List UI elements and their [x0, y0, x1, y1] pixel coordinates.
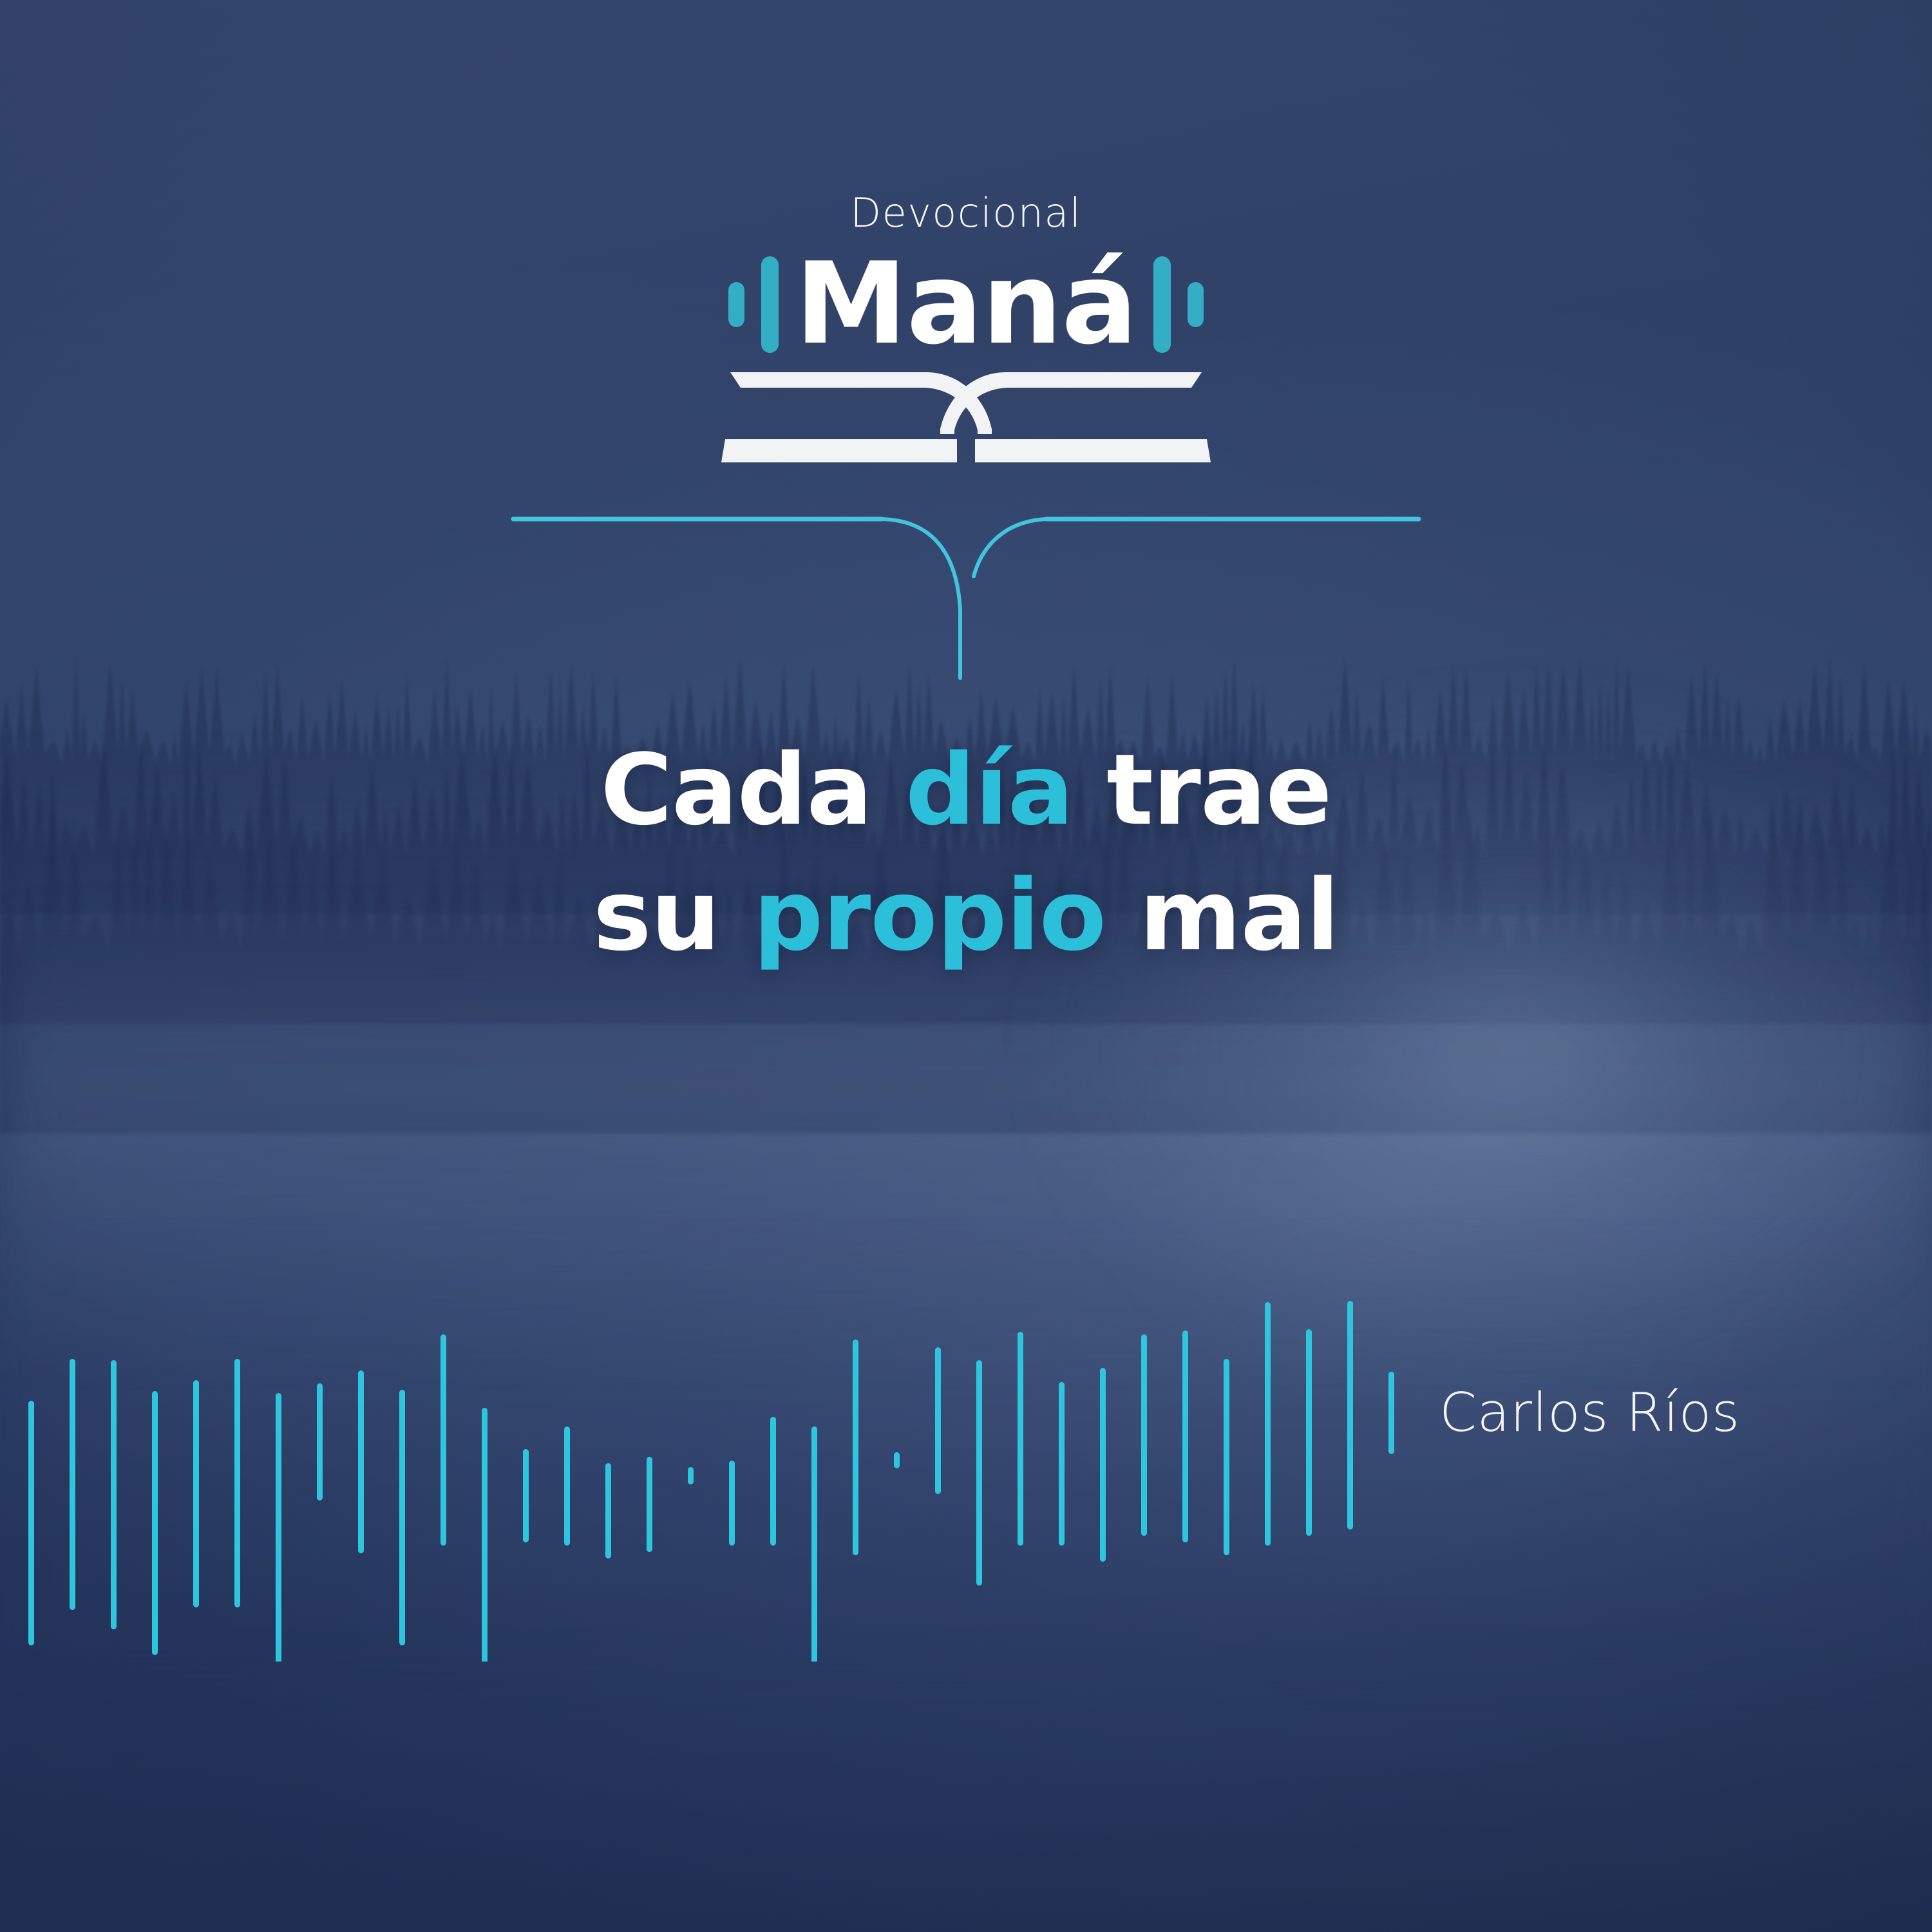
equalizer-bar-icon — [1153, 256, 1171, 353]
open-book-icon — [721, 367, 1211, 477]
logo-wordmark-row: Maná — [728, 251, 1204, 358]
page-title: Cada día trae su propio mal — [0, 728, 1932, 978]
waveform-bar — [276, 1393, 281, 1662]
waveform-bar — [70, 1359, 75, 1610]
equalizer-bar-icon — [728, 282, 744, 327]
bracket-pointer-divider — [0, 512, 1932, 718]
waveform-bar — [935, 1347, 941, 1494]
waveform-bar — [605, 1463, 611, 1558]
headline-word: trae — [1073, 733, 1331, 847]
waveform-bar — [894, 1452, 900, 1468]
waveform-bar — [1306, 1329, 1312, 1536]
waveform-bar — [111, 1360, 117, 1629]
waveform-bar — [440, 1334, 446, 1546]
equalizer-bar-icon — [761, 256, 779, 353]
waveform-bar — [193, 1380, 199, 1607]
brand-logo: Devocional Maná — [0, 193, 1932, 477]
waveform-bar — [28, 1401, 34, 1645]
headline-word: Cada — [600, 733, 905, 847]
waveform-bar — [317, 1383, 323, 1501]
waveform-bar — [1388, 1372, 1394, 1454]
waveform-bar — [853, 1340, 858, 1555]
logo-equalizer-bars-left — [728, 256, 779, 353]
headline-word: mal — [1106, 858, 1339, 972]
audio-waveform[interactable] — [0, 1301, 1417, 1662]
waveform-bar — [729, 1461, 735, 1546]
waveform-bar — [976, 1360, 982, 1586]
headline-accent-word: propio — [753, 858, 1106, 972]
waveform-bar — [152, 1391, 158, 1655]
waveform-bar — [1224, 1359, 1229, 1555]
headline-word: su — [593, 858, 753, 972]
logo-wordmark-text: Maná — [795, 251, 1137, 358]
logo-equalizer-bars-right — [1153, 256, 1204, 353]
waveform-bar — [234, 1359, 240, 1607]
waveform-bar — [482, 1408, 488, 1662]
waveform-bar — [523, 1449, 529, 1542]
waveform-bar — [1059, 1382, 1065, 1546]
headline-accent-word: día — [905, 733, 1073, 847]
logo-kicker-text: Devocional — [850, 193, 1081, 233]
waveform-bar — [688, 1467, 694, 1484]
equalizer-bar-icon — [1188, 282, 1204, 327]
waveform-bar — [1018, 1332, 1023, 1546]
waveform-bar — [770, 1417, 776, 1546]
waveform-bar — [811, 1426, 817, 1662]
devotional-cover-canvas: Devocional Maná — [0, 0, 1932, 1932]
waveform-bar — [358, 1370, 364, 1553]
waveform-bar — [1265, 1302, 1271, 1546]
author-name: Carlos Ríos — [1439, 1381, 1740, 1444]
waveform-bar — [399, 1390, 405, 1645]
waveform-bar — [564, 1426, 570, 1546]
waveform-bar — [1182, 1331, 1188, 1542]
waveform-bar — [1141, 1334, 1147, 1536]
waveform-bar — [1347, 1301, 1353, 1529]
waveform-bar — [1100, 1368, 1106, 1562]
headline-line-1: Cada día trae — [0, 728, 1932, 853]
headline-line-2: su propio mal — [0, 853, 1932, 979]
waveform-bar — [647, 1457, 652, 1552]
